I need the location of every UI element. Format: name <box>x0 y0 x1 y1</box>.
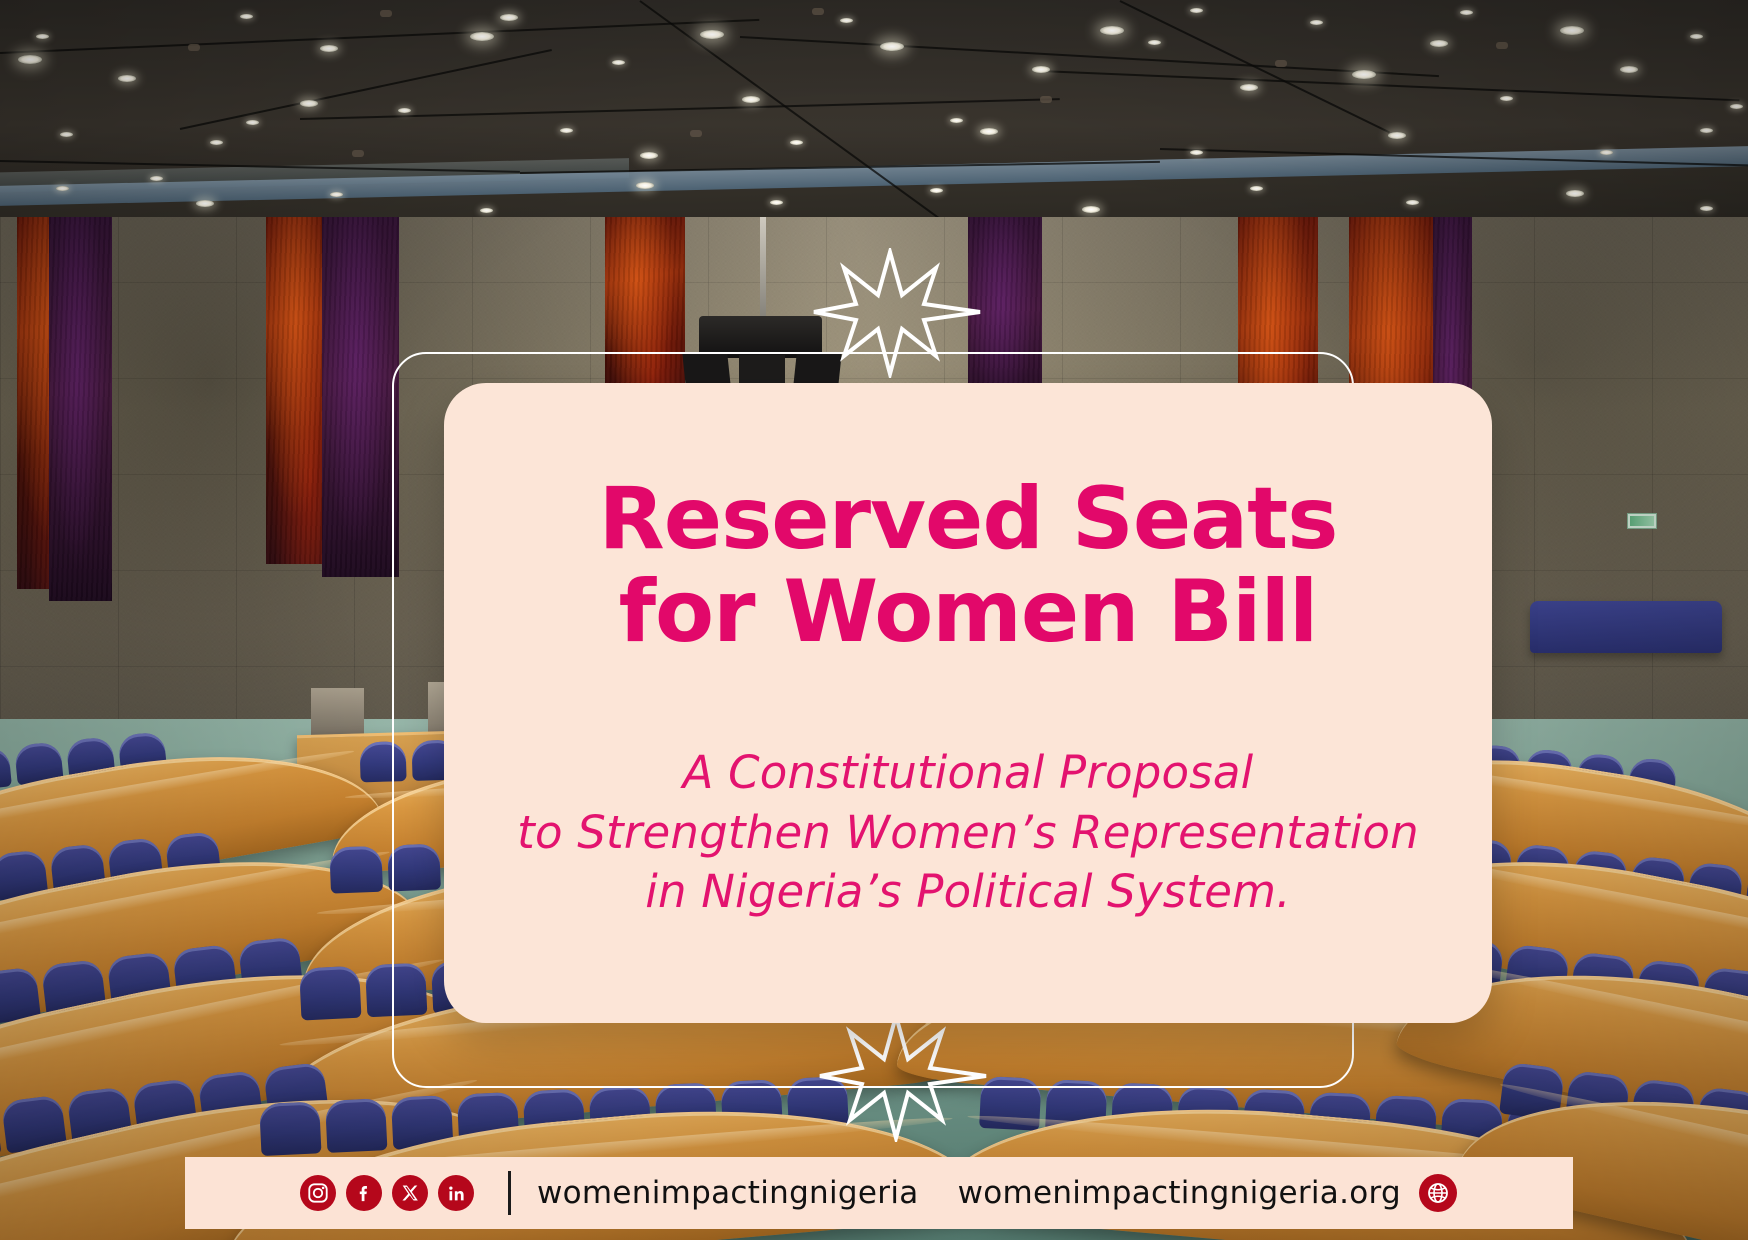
ceiling-light <box>1310 20 1323 25</box>
ceiling-light <box>1352 70 1376 79</box>
ceiling-light <box>196 200 214 207</box>
chamber-seat <box>0 1103 2 1162</box>
ceiling-light <box>118 75 136 82</box>
poster-canvas: Reserved Seats for Women Bill A Constitu… <box>0 0 1748 1240</box>
ceiling-light <box>1430 40 1448 47</box>
ceiling-light <box>300 100 318 107</box>
ceiling-light <box>1500 96 1513 101</box>
ceiling-light <box>320 45 338 52</box>
ceiling-light <box>56 186 69 191</box>
ceiling-light <box>840 18 853 23</box>
ceiling-light <box>636 182 654 189</box>
ceiling-light <box>1032 66 1050 73</box>
subtitle-line-1: A Constitutional Proposal <box>517 743 1419 803</box>
ceiling-light <box>36 34 49 39</box>
chamber-seat <box>0 746 12 790</box>
facebook-icon[interactable] <box>346 1175 382 1211</box>
ceiling-light <box>1700 206 1713 211</box>
ceiling-light <box>1566 190 1584 197</box>
ceiling-light <box>1100 26 1124 35</box>
ceiling-light <box>1250 186 1263 191</box>
ceiling-light <box>1560 26 1584 35</box>
page-title: Reserved Seats for Women Bill <box>528 473 1408 659</box>
ceiling-fixture <box>188 44 200 51</box>
chamber-seat <box>329 846 383 894</box>
ceiling-light <box>240 14 253 19</box>
website-url[interactable]: womenimpactingnigeria.org <box>958 1175 1401 1211</box>
chamber-seat <box>387 843 441 891</box>
x-twitter-icon[interactable] <box>392 1175 428 1211</box>
social-links <box>300 1175 474 1211</box>
ceiling-light <box>950 118 963 123</box>
chamber-seat <box>325 1098 387 1153</box>
ceiling-light <box>1700 128 1713 133</box>
ceiling-light <box>1406 200 1419 205</box>
exit-sign <box>1627 513 1657 529</box>
footer-divider <box>508 1171 511 1215</box>
ceiling-light <box>1388 132 1406 139</box>
ceiling-fixture <box>812 8 824 15</box>
linkedin-icon[interactable] <box>438 1175 474 1211</box>
ceiling-fixture <box>1275 60 1287 67</box>
ceiling-light <box>18 55 42 64</box>
social-handle: womenimpactingnigeria <box>537 1175 919 1211</box>
art-panel-purple-2 <box>322 217 399 577</box>
content-card: Reserved Seats for Women Bill A Constitu… <box>444 383 1492 1023</box>
light-rig-pole <box>760 217 766 329</box>
blue-bench-right <box>1530 601 1722 653</box>
chamber-seat <box>259 1101 321 1156</box>
ceiling-light <box>150 176 163 181</box>
ceiling-light <box>1190 150 1203 155</box>
ceiling-light <box>640 152 658 159</box>
globe-icon[interactable] <box>1419 1174 1457 1212</box>
ceiling-fixture <box>1496 42 1508 49</box>
footer-bar: womenimpactingnigeria womenimpactingnige… <box>185 1157 1573 1229</box>
ceiling-light <box>480 208 493 213</box>
ceiling-light <box>1460 10 1473 15</box>
ceiling-light <box>500 14 518 21</box>
ceiling-light <box>246 120 259 125</box>
ceiling-light <box>1690 34 1703 39</box>
ceiling-fixture <box>380 10 392 17</box>
ceiling-light <box>60 132 73 137</box>
ceiling-fixture <box>690 130 702 137</box>
ceiling-fixture <box>352 150 364 157</box>
instagram-icon[interactable] <box>300 1175 336 1211</box>
ceiling-light <box>612 60 625 65</box>
ceiling-light <box>742 96 760 103</box>
ceiling-fixture <box>1040 96 1052 103</box>
ceiling-light <box>790 140 803 145</box>
ceiling-light <box>330 192 343 197</box>
chamber-seat <box>299 966 361 1021</box>
art-panel-purple-1 <box>49 217 112 601</box>
subtitle-line-3: in Nigeria’s Political System. <box>517 862 1419 922</box>
ceiling-light <box>470 32 494 41</box>
ceiling-light <box>1148 40 1161 45</box>
ceiling-light <box>1600 150 1613 155</box>
ceiling-light <box>1620 66 1638 73</box>
ceiling-light <box>1240 84 1258 91</box>
ceiling-light <box>880 42 904 51</box>
ceiling-light <box>1190 8 1203 13</box>
ceiling-light <box>980 128 998 135</box>
ceiling-light <box>210 140 223 145</box>
ceiling-light <box>770 200 783 205</box>
ceiling-light <box>1730 104 1743 109</box>
ceiling-light <box>398 108 411 113</box>
ceiling-light <box>700 30 724 39</box>
subtitle-line-2: to Strengthen Women’s Representation <box>517 803 1419 863</box>
chamber-seat <box>365 963 427 1018</box>
chamber-seat <box>359 741 406 782</box>
ceiling-light <box>560 128 573 133</box>
page-subtitle: A Constitutional Proposal to Strengthen … <box>517 743 1419 923</box>
ceiling-light <box>1082 206 1100 213</box>
ceiling-light <box>930 188 943 193</box>
